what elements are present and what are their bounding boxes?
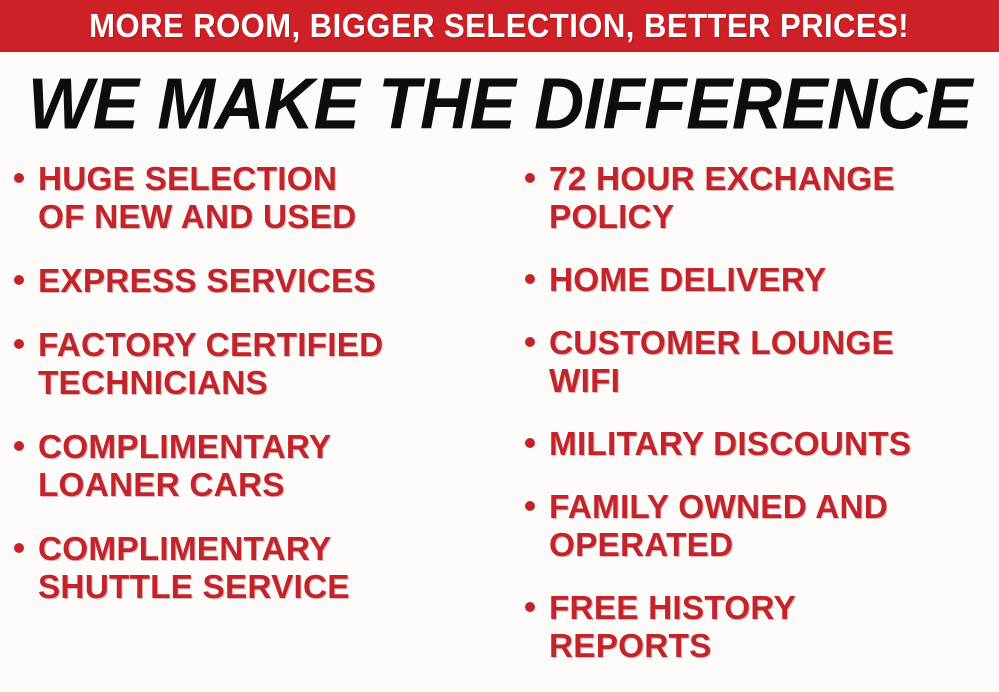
- benefits-column-right: 72 HOUR EXCHANGE POLICY HOME DELIVERY CU…: [505, 160, 999, 690]
- list-item-label: MILITARY DISCOUNTS: [549, 425, 911, 463]
- list-item: HUGE SELECTION OF NEW AND USED: [14, 160, 505, 236]
- list-item: FACTORY CERTIFIED TECHNICIANS: [14, 326, 505, 402]
- bullet-dot-icon: [525, 602, 535, 612]
- list-item-label: HUGE SELECTION OF NEW AND USED: [38, 160, 356, 236]
- bullet-dot-icon: [525, 274, 535, 284]
- list-item: FAMILY OWNED AND OPERATED: [525, 488, 999, 564]
- bullet-dot-icon: [14, 173, 24, 183]
- list-item-label: CUSTOMER LOUNGE WIFI: [549, 324, 894, 400]
- list-item-label: FREE HISTORY REPORTS: [549, 589, 796, 665]
- bullet-dot-icon: [14, 275, 24, 285]
- benefits-columns: HUGE SELECTION OF NEW AND USED EXPRESS S…: [0, 160, 999, 692]
- list-item: CUSTOMER LOUNGE WIFI: [525, 324, 999, 400]
- list-item-label: HOME DELIVERY: [549, 261, 826, 299]
- top-red-banner-strip: MORE ROOM, BIGGER SELECTION, BETTER PRIC…: [0, 0, 999, 52]
- bullet-dot-icon: [525, 173, 535, 183]
- list-item-label: EXPRESS SERVICES: [38, 262, 376, 300]
- list-item: COMPLIMENTARY LOANER CARS: [14, 428, 505, 504]
- list-item-label: FACTORY CERTIFIED TECHNICIANS: [38, 326, 383, 402]
- list-item-label: FAMILY OWNED AND OPERATED: [549, 488, 888, 564]
- list-item-label: COMPLIMENTARY SHUTTLE SERVICE: [38, 530, 350, 606]
- list-item: MILITARY DISCOUNTS: [525, 425, 999, 463]
- headline-container: WE MAKE THE DIFFERENCE: [0, 68, 999, 140]
- dealership-advertisement-banner: MORE ROOM, BIGGER SELECTION, BETTER PRIC…: [0, 0, 999, 692]
- bullet-dot-icon: [525, 438, 535, 448]
- list-item-label: COMPLIMENTARY LOANER CARS: [38, 428, 331, 504]
- bullet-dot-icon: [14, 543, 24, 553]
- bullet-dot-icon: [525, 337, 535, 347]
- list-item: FREE HISTORY REPORTS: [525, 589, 999, 665]
- bullet-dot-icon: [525, 501, 535, 511]
- page-title: WE MAKE THE DIFFERENCE: [27, 68, 971, 140]
- benefits-column-left: HUGE SELECTION OF NEW AND USED EXPRESS S…: [0, 160, 505, 632]
- list-item-label: 72 HOUR EXCHANGE POLICY: [549, 160, 895, 236]
- list-item: EXPRESS SERVICES: [14, 262, 505, 300]
- top-banner-tagline: MORE ROOM, BIGGER SELECTION, BETTER PRIC…: [90, 9, 910, 44]
- list-item: 72 HOUR EXCHANGE POLICY: [525, 160, 999, 236]
- list-item: COMPLIMENTARY SHUTTLE SERVICE: [14, 530, 505, 606]
- bullet-dot-icon: [14, 441, 24, 451]
- bullet-dot-icon: [14, 339, 24, 349]
- list-item: HOME DELIVERY: [525, 261, 999, 299]
